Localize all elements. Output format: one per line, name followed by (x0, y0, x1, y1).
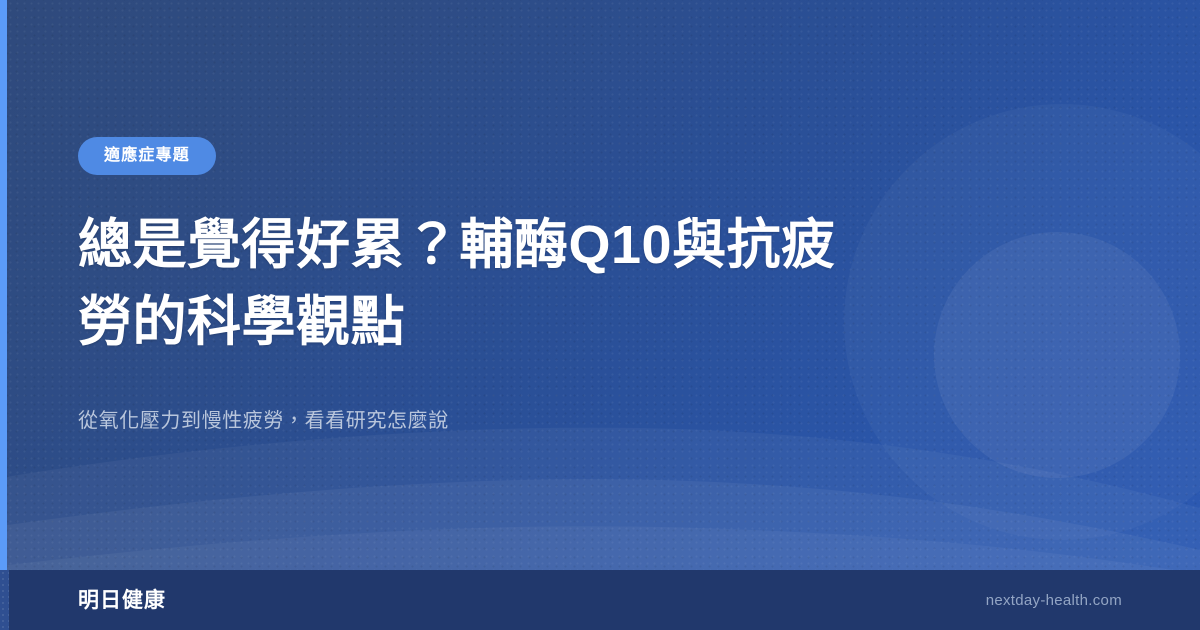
page-title: 總是覺得好累？輔酶Q10與抗疲勞的科學觀點 (78, 207, 858, 360)
footer-bar: 明日健康 nextday-health.com (0, 570, 1200, 630)
og-share-card: 適應症專題 總是覺得好累？輔酶Q10與抗疲勞的科學觀點 從氧化壓力到慢性疲勞，看… (0, 0, 1200, 630)
category-badge[interactable]: 適應症專題 (78, 137, 216, 175)
card-content: 適應症專題 總是覺得好累？輔酶Q10與抗疲勞的科學觀點 從氧化壓力到慢性疲勞，看… (78, 0, 898, 570)
page-subtitle: 從氧化壓力到慢性疲勞，看看研究怎麼說 (78, 405, 898, 437)
site-url: nextday-health.com (986, 593, 1122, 608)
left-accent-bar (0, 0, 7, 570)
brand-name: 明日健康 (78, 590, 166, 611)
footer-left-edge (0, 570, 9, 630)
